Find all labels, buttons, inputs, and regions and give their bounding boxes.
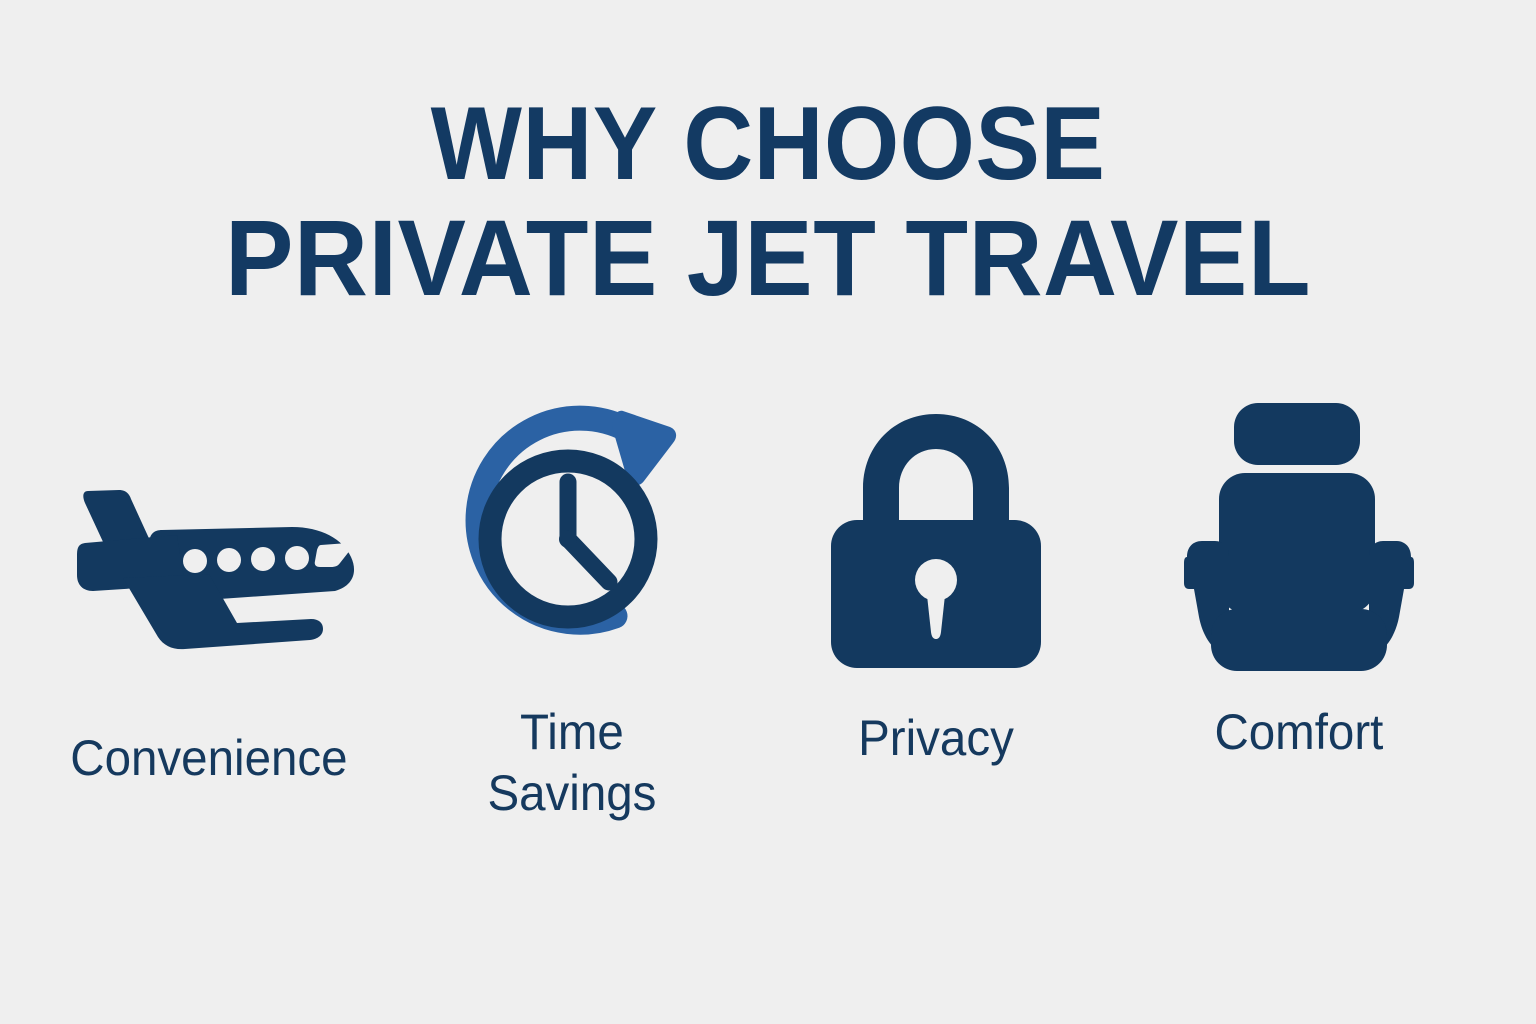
feature-label-privacy: Privacy [858,708,1014,769]
infographic-poster: WHY CHOOSE PRIVATE JET TRAVEL [0,0,1536,1024]
feature-label-time-savings: Time Savings [488,702,657,824]
private-jet-icon [59,392,359,708]
title-line-2: PRIVATE JET TRAVEL [38,200,1497,317]
feature-time-savings[interactable]: Time Savings [407,392,737,824]
feature-label-convenience: Convenience [70,728,347,789]
feature-privacy[interactable]: Privacy [771,392,1101,769]
clock-arrow-icon [422,392,722,682]
feature-comfort[interactable]: Comfort [1134,392,1464,763]
armchair-seat-icon [1149,392,1449,682]
feature-list: Convenience [44,392,1464,824]
title-line-1: WHY CHOOSE [54,88,1482,200]
padlock-icon [786,392,1086,688]
feature-convenience[interactable]: Convenience [44,392,374,789]
feature-label-comfort: Comfort [1215,702,1384,763]
page-title: WHY CHOOSE PRIVATE JET TRAVEL [0,88,1536,317]
